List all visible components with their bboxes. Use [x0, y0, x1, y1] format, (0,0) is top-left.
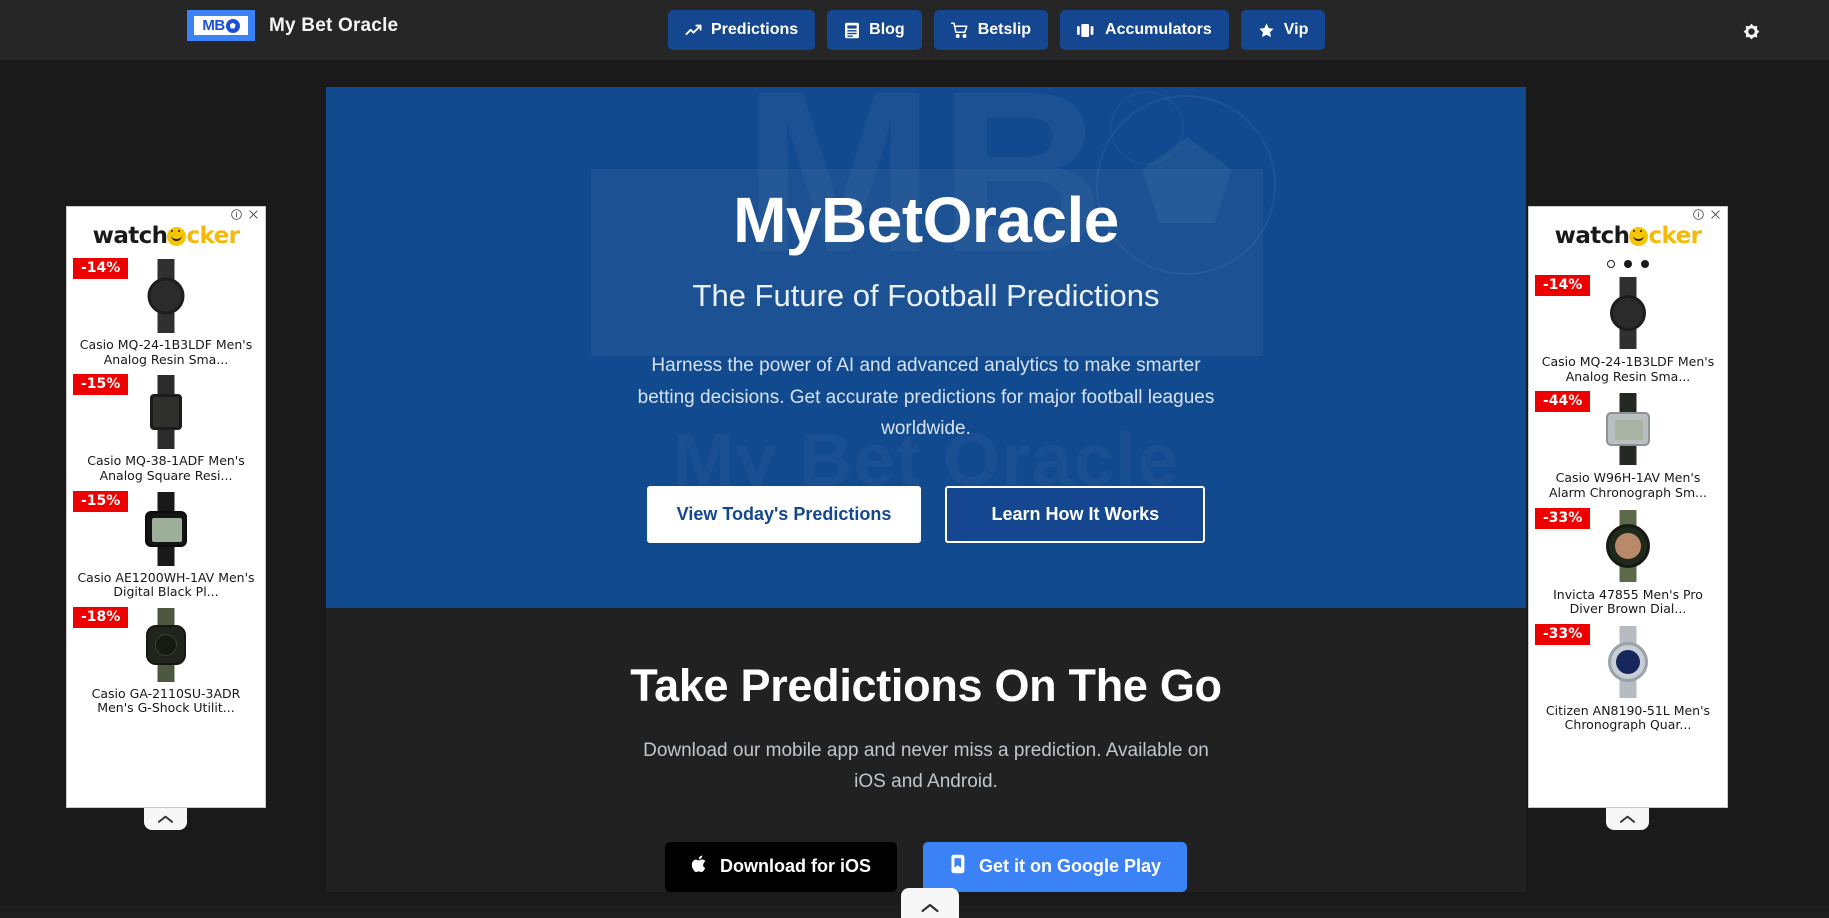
carousel-dot[interactable]: [1641, 260, 1649, 268]
page-scroll-up-button[interactable]: [901, 888, 959, 918]
ad-left-brand-logo[interactable]: watchcker: [67, 224, 265, 255]
ad-carousel-dots: [1529, 255, 1727, 272]
discount-badge: -33%: [1535, 624, 1590, 645]
hero-description: Harness the power of AI and advanced ana…: [626, 350, 1226, 444]
ad-left-controls: [67, 207, 265, 224]
ad-left-collapse-button[interactable]: [144, 808, 187, 830]
discount-badge: -44%: [1535, 391, 1590, 412]
discount-badge: -14%: [1535, 275, 1590, 296]
trending-up-icon: [685, 22, 702, 39]
newspaper-icon: [844, 22, 860, 39]
ad-product-item[interactable]: -14% Casio MQ-24-1B3LDF Men's Analog Res…: [67, 255, 265, 371]
ad-right-controls: [1529, 207, 1727, 224]
nav-label-vip: Vip: [1284, 21, 1309, 39]
carousel-dot[interactable]: [1607, 260, 1615, 268]
top-navigation-bar: MB My Bet Oracle Predictions Blog Betsli…: [0, 0, 1829, 60]
main-content-column: MB My Bet Oracle MyBetOracle The Future …: [326, 87, 1526, 892]
apple-icon: [691, 854, 708, 879]
product-title: Casio MQ-24-1B3LDF Men's Analog Resin Sm…: [1529, 351, 1727, 386]
product-title: Invicta 47855 Men's Pro Diver Brown Dial…: [1529, 584, 1727, 619]
nav-button-predictions[interactable]: Predictions: [668, 10, 815, 50]
app-store-button-group: Download for iOS Get it on Google Play: [326, 842, 1526, 892]
nav-label-accumulators: Accumulators: [1105, 21, 1212, 39]
ad-right-brand-logo[interactable]: watchcker: [1529, 224, 1727, 255]
ad-product-item[interactable]: -14% Casio MQ-24-1B3LDF Men's Analog Res…: [1529, 272, 1727, 388]
product-title: Casio W96H-1AV Men's Alarm Chronograph S…: [1529, 467, 1727, 502]
brand-title: My Bet Oracle: [269, 15, 398, 37]
brand-logo-group[interactable]: MB My Bet Oracle: [187, 10, 398, 41]
product-title: Citizen AN8190-51L Men's Chronograph Qua…: [1529, 700, 1727, 735]
get-it-on-google-play-button[interactable]: Get it on Google Play: [923, 842, 1187, 892]
product-title: Casio MQ-38-1ADF Men's Analog Square Res…: [67, 450, 265, 485]
smiley-face-icon: [1629, 227, 1648, 246]
app-section-heading: Take Predictions On The Go: [326, 660, 1526, 712]
ad-product-item[interactable]: -15% Casio MQ-38-1ADF Men's Analog Squar…: [67, 371, 265, 487]
hero-subtitle: The Future of Football Predictions: [326, 278, 1526, 314]
ad-info-icon[interactable]: [231, 207, 242, 225]
play-button-label: Get it on Google Play: [979, 856, 1161, 877]
ad-product-item[interactable]: -15% Casio AE1200WH-1AV Men's Digital Bl…: [67, 488, 265, 604]
layers-icon: [1077, 23, 1096, 38]
discount-badge: -18%: [73, 607, 128, 628]
mobile-app-section: Take Predictions On The Go Download our …: [326, 608, 1526, 892]
product-title: Casio MQ-24-1B3LDF Men's Analog Resin Sm…: [67, 334, 265, 369]
discount-badge: -15%: [73, 374, 128, 395]
ad-product-item[interactable]: -33% Invicta 47855 Men's Pro Diver Brown…: [1529, 505, 1727, 621]
hero-cta-group: View Today's Predictions Learn How It Wo…: [326, 486, 1526, 543]
learn-how-it-works-button[interactable]: Learn How It Works: [945, 486, 1205, 543]
ad-product-item[interactable]: -18% Casio GA-2110SU-3ADR Men's G-Shock …: [67, 604, 265, 720]
ad-brand-part2: cker: [1648, 223, 1701, 249]
nav-button-group: Predictions Blog Betslip Accumulators Vi: [668, 10, 1325, 50]
brightness-sun-icon[interactable]: [1738, 18, 1764, 44]
discount-badge: -15%: [73, 491, 128, 512]
nav-button-vip[interactable]: Vip: [1241, 10, 1326, 50]
product-title: Casio AE1200WH-1AV Men's Digital Black P…: [67, 567, 265, 602]
ad-brand-part1: watch: [93, 223, 168, 249]
ad-brand-part2: cker: [186, 223, 239, 249]
ad-close-icon[interactable]: [1710, 207, 1721, 225]
nav-button-betslip[interactable]: Betslip: [934, 10, 1048, 50]
nav-button-blog[interactable]: Blog: [827, 10, 922, 50]
nav-label-betslip: Betslip: [978, 21, 1031, 39]
download-for-ios-button[interactable]: Download for iOS: [665, 842, 897, 892]
product-title: Casio GA-2110SU-3ADR Men's G-Shock Utili…: [67, 683, 265, 718]
page-body: MB My Bet Oracle MyBetOracle The Future …: [0, 60, 1829, 905]
nav-label-blog: Blog: [869, 21, 905, 39]
view-todays-predictions-button[interactable]: View Today's Predictions: [647, 486, 922, 543]
discount-badge: -14%: [73, 258, 128, 279]
ad-panel-left: watchcker -14% Casio MQ-24-1B3LDF Men's …: [66, 206, 266, 808]
soccer-ball-icon: [226, 19, 240, 33]
discount-badge: -33%: [1535, 508, 1590, 529]
ad-panel-right: watchcker -14% Casio MQ-24-1B3LDF Men's …: [1528, 206, 1728, 808]
nav-label-predictions: Predictions: [711, 21, 798, 39]
google-play-icon: [949, 854, 967, 879]
carousel-dot[interactable]: [1624, 260, 1632, 268]
nav-button-accumulators[interactable]: Accumulators: [1060, 10, 1229, 50]
mb-logo-icon: MB: [187, 10, 255, 41]
ad-right-collapse-button[interactable]: [1606, 808, 1649, 830]
star-icon: [1258, 22, 1275, 39]
ios-button-label: Download for iOS: [720, 856, 871, 877]
ad-info-icon[interactable]: [1693, 207, 1704, 225]
mb-logo-text: MB: [202, 18, 224, 33]
smiley-face-icon: [167, 227, 186, 246]
hero-title: MyBetOracle: [326, 87, 1526, 254]
ad-product-item[interactable]: -44% Casio W96H-1AV Men's Alarm Chronogr…: [1529, 388, 1727, 504]
hero-section: MB My Bet Oracle MyBetOracle The Future …: [326, 87, 1526, 608]
ad-product-item[interactable]: -33% Citizen AN8190-51L Men's Chronograp…: [1529, 621, 1727, 737]
ad-close-icon[interactable]: [248, 207, 259, 225]
shopping-cart-icon: [951, 21, 969, 39]
ad-brand-part1: watch: [1555, 223, 1630, 249]
app-section-description: Download our mobile app and never miss a…: [636, 736, 1216, 798]
